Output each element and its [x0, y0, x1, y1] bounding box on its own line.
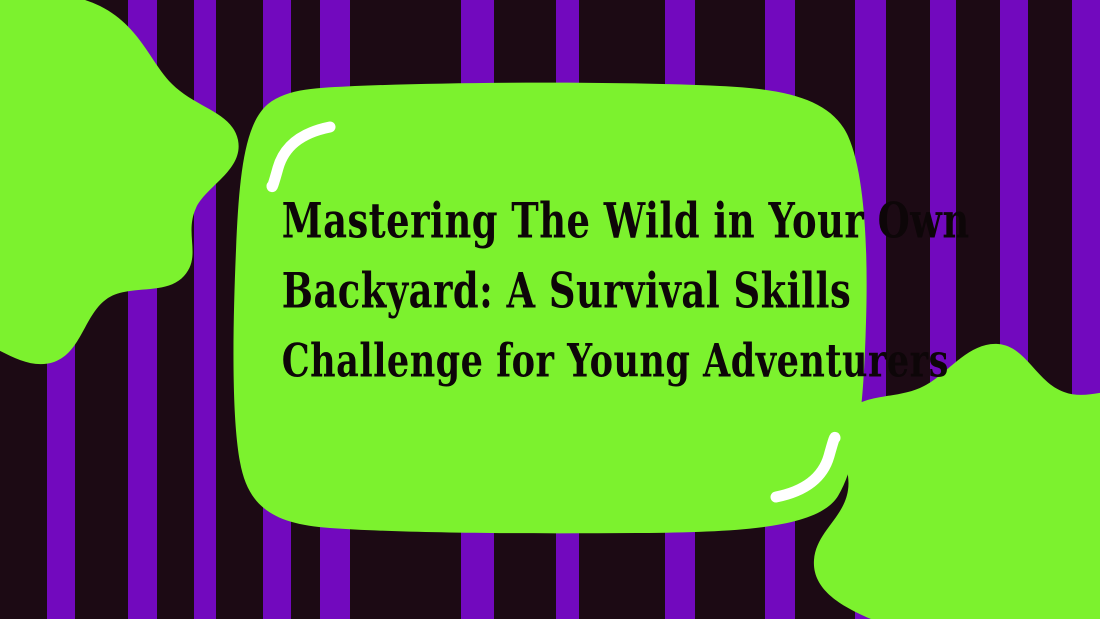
title-text-block: Mastering The Wild in Your Own Backyard:…: [252, 186, 848, 396]
title-graphic: Mastering The Wild in Your Own Backyard:…: [0, 0, 1100, 619]
title-line-3: Challenge for Young Adventurers: [282, 320, 818, 403]
